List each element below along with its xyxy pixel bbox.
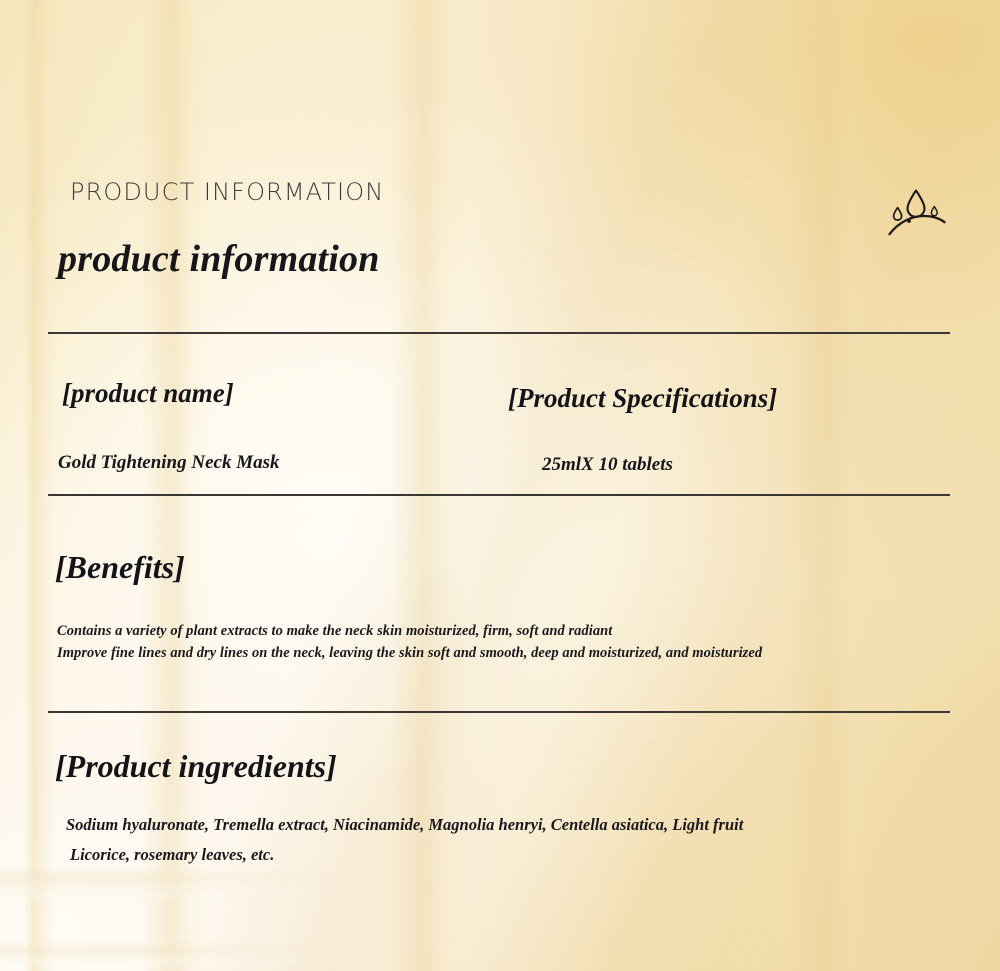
ingredients-line: Sodium hyaluronate, Tremella extract, Ni… xyxy=(66,810,743,840)
benefits-line: Contains a variety of plant extracts to … xyxy=(57,620,762,642)
ingredients-list: Sodium hyaluronate, Tremella extract, Ni… xyxy=(66,810,743,870)
benefits-line: Improve fine lines and dry lines on the … xyxy=(57,642,762,664)
product-specifications-label: [Product Specifications] xyxy=(508,383,777,414)
page-title: product information xyxy=(58,237,380,281)
product-name-value: Gold Tightening Neck Mask xyxy=(58,452,280,474)
divider-top xyxy=(48,332,950,334)
product-specifications-value: 25mlX 10 tablets xyxy=(542,454,673,476)
product-name-label: [product name] xyxy=(62,378,234,409)
divider-bottom xyxy=(48,711,950,713)
benefits-list: Contains a variety of plant extracts to … xyxy=(57,620,762,664)
divider-middle xyxy=(48,494,950,496)
product-information-page: PRODUCT INFORMATION product information … xyxy=(0,0,1000,971)
ingredients-line: Licorice, rosemary leaves, etc. xyxy=(66,840,743,870)
product-ingredients-heading: [Product ingredients] xyxy=(55,748,337,785)
benefits-heading: [Benefits] xyxy=(55,549,185,586)
page-eyebrow: PRODUCT INFORMATION xyxy=(70,178,384,206)
water-droplet-icon xyxy=(880,182,952,242)
